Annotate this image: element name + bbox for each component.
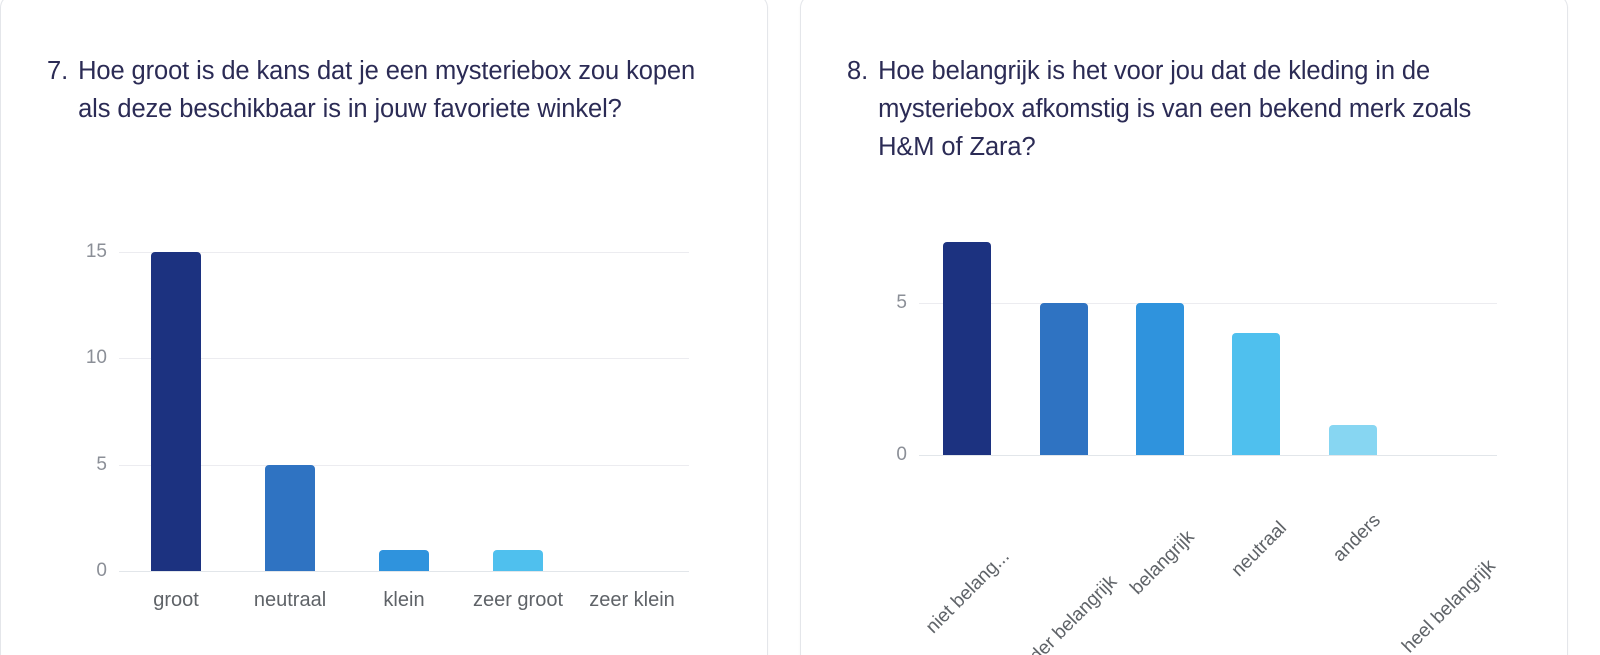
- bar[interactable]: [943, 242, 991, 455]
- y-axis-tick-label: 10: [86, 347, 107, 369]
- x-axis-tick-label: zeer klein: [589, 589, 675, 612]
- x-axis-tick-label: neutraal: [254, 589, 326, 612]
- x-axis-tick-label: neutraal: [1276, 469, 1340, 533]
- x-axis-tick-label: heel belangrijk: [1485, 469, 1568, 571]
- bar[interactable]: [379, 550, 429, 571]
- question-text: Hoe groot is de kans dat je een mysterie…: [78, 52, 723, 128]
- plot-area-right: 05niet belang...minder belangrijkbelangr…: [919, 233, 1497, 455]
- bar[interactable]: [1136, 303, 1184, 455]
- y-axis-tick-label: 0: [896, 444, 907, 466]
- y-axis-tick-label: 0: [96, 560, 107, 582]
- y-axis-tick-label: 15: [86, 241, 107, 263]
- bar[interactable]: [265, 465, 315, 571]
- y-axis-tick-label: 5: [896, 292, 907, 314]
- survey-charts-board: 7. Hoe groot is de kans dat je een myste…: [0, 0, 1600, 655]
- question-number: 8.: [847, 52, 878, 166]
- question-card-7: 7. Hoe groot is de kans dat je een myste…: [0, 0, 768, 655]
- gridline: [119, 252, 689, 253]
- bar[interactable]: [1040, 303, 1088, 455]
- gridline: [119, 465, 689, 466]
- bar-chart-question-8: 05niet belang...minder belangrijkbelangr…: [801, 223, 1567, 623]
- question-text: Hoe belangrijk is het voor jou dat de kl…: [878, 52, 1523, 166]
- bar-chart-question-7: 051015grootneutraalkleinzeer grootzeer k…: [1, 223, 767, 623]
- bar[interactable]: [1232, 333, 1280, 455]
- bar[interactable]: [151, 252, 201, 571]
- gridline: [919, 455, 1497, 456]
- question-number: 7.: [47, 52, 78, 128]
- bar[interactable]: [1329, 425, 1377, 455]
- x-axis-tick-label: zeer groot: [473, 589, 563, 612]
- gridline: [119, 358, 689, 359]
- plot-area-left: 051015grootneutraalkleinzeer grootzeer k…: [119, 241, 689, 571]
- x-axis-tick-label: groot: [153, 589, 199, 612]
- bar[interactable]: [493, 550, 543, 571]
- page-title: 8. Hoe belangrijk is het voor jou dat de…: [847, 52, 1523, 166]
- question-card-8: 8. Hoe belangrijk is het voor jou dat de…: [800, 0, 1568, 655]
- x-axis-tick-label: klein: [383, 589, 424, 612]
- x-axis-tick-label: anders: [1370, 469, 1427, 526]
- x-axis-tick-label: niet belang...: [999, 469, 1091, 561]
- gridline: [919, 303, 1497, 304]
- y-axis-tick-label: 5: [96, 454, 107, 476]
- page-title: 7. Hoe groot is de kans dat je een myste…: [47, 52, 723, 128]
- gridline: [119, 571, 689, 572]
